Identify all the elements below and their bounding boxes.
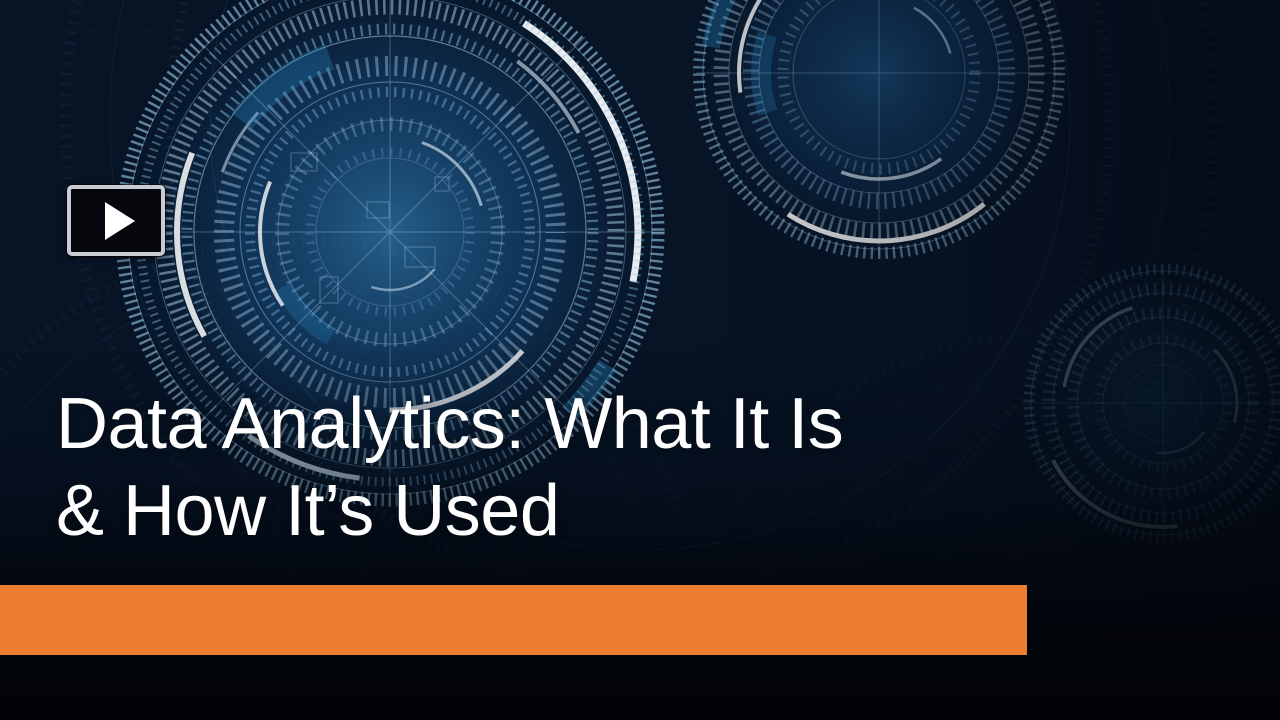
secondary-hud-ring: [688, 0, 1070, 264]
accent-bar: [0, 585, 1027, 655]
title-slide: Data Analytics: What It Is & How It’s Us…: [0, 0, 1280, 720]
video-play-button[interactable]: [67, 185, 165, 256]
page-title: Data Analytics: What It Is & How It’s Us…: [56, 381, 1016, 556]
play-triangle-icon: [105, 202, 135, 240]
tertiary-hud-ring: [1018, 258, 1280, 548]
